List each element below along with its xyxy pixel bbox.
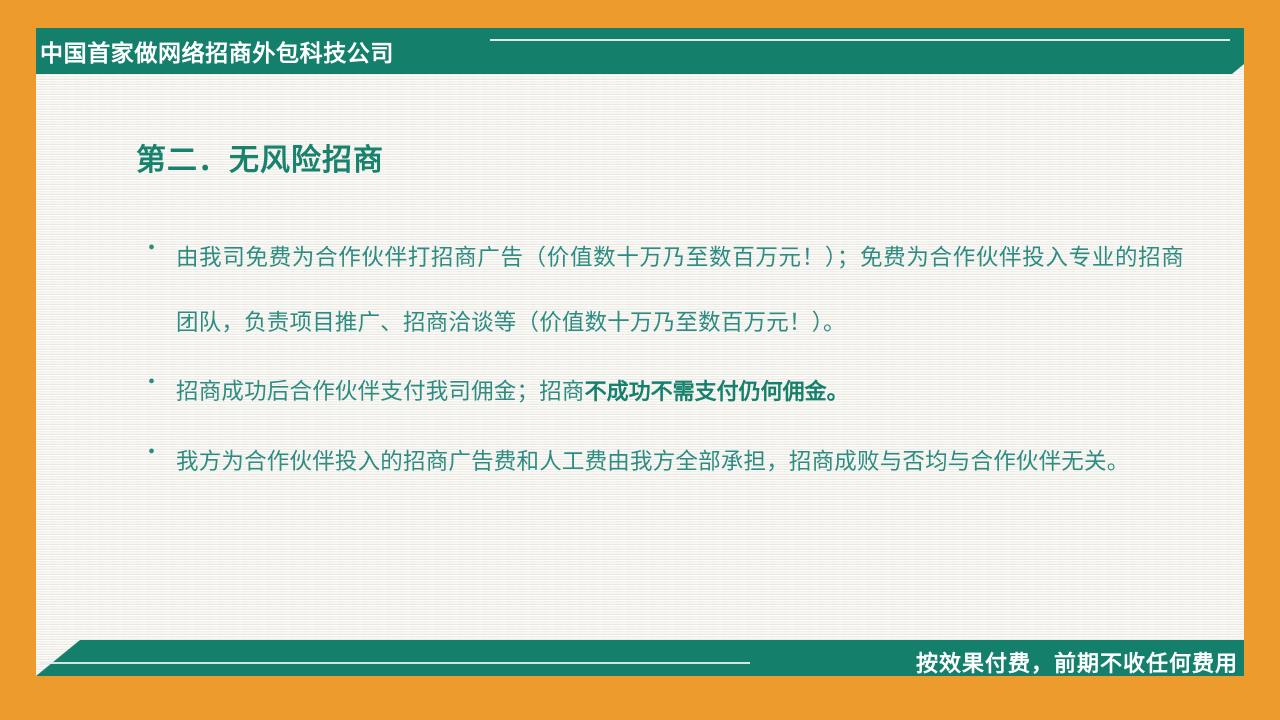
bullet-segment-plain: 我方为合作伙伴投入的招商广告费和人工费由我方全部承担，招商成败与否均与合作伙伴无… [176, 449, 1129, 474]
footer-tagline: 按效果付费，前期不收任何费用 [916, 646, 1238, 678]
footer-divider-line [40, 662, 750, 664]
bullet-segment-emphasis: 不成功不需支付仍何佣金。 [585, 380, 849, 405]
list-item: • 由我司免费为合作伙伴打招商广告（价值数十万乃至数百万元！）；免费为合作伙伴投… [144, 225, 1184, 355]
header-divider-line [490, 39, 1230, 41]
bullet-text-2: 招商成功后合作伙伴支付我司佣金；招商不成功不需支付仍何佣金。 [176, 359, 1184, 425]
bullet-list: • 由我司免费为合作伙伴打招商广告（价值数十万乃至数百万元！）；免费为合作伙伴投… [144, 225, 1184, 498]
list-item: • 我方为合作伙伴投入的招商广告费和人工费由我方全部承担，招商成败与否均与合作伙… [144, 429, 1184, 494]
list-item: • 招商成功后合作伙伴支付我司佣金；招商不成功不需支付仍何佣金。 [144, 359, 1184, 425]
page-title: 第二．无风险招商 [136, 135, 384, 179]
slide-canvas: 中国首家做网络招商外包科技公司 第二．无风险招商 • 由我司免费为合作伙伴打招商… [0, 0, 1280, 720]
bullet-marker-icon: • [144, 429, 176, 476]
bullet-text-3: 我方为合作伙伴投入的招商广告费和人工费由我方全部承担，招商成败与否均与合作伙伴无… [176, 429, 1184, 494]
bullet-marker-icon: • [144, 225, 176, 272]
bullet-segment-plain: 由我司免费为合作伙伴打招商广告（价值数十万乃至数百万元！）；免费为合作伙伴投入专… [176, 245, 1184, 335]
bullet-text-1: 由我司免费为合作伙伴打招商广告（价值数十万乃至数百万元！）；免费为合作伙伴投入专… [176, 225, 1184, 355]
bullet-segment-plain: 招商成功后合作伙伴支付我司佣金；招商 [176, 379, 585, 404]
header-banner-text: 中国首家做网络招商外包科技公司 [40, 34, 394, 68]
bullet-marker-icon: • [144, 359, 176, 406]
